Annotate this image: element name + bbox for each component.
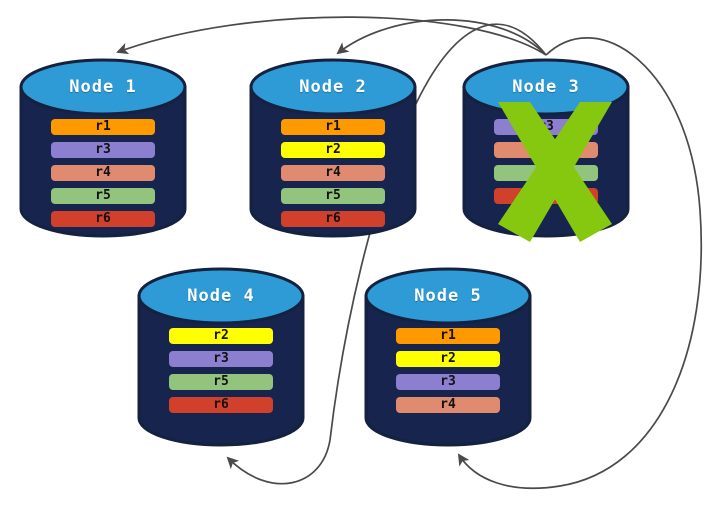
node-1[interactable]: Node 1 r1 r3 r4 r5 r6 (15, 56, 191, 240)
arrow-node3-to-node2 (338, 20, 546, 55)
node-1-record-r1[interactable]: r1 (51, 119, 155, 135)
node-3-record-r6[interactable] (494, 188, 598, 204)
node-2-record-r1[interactable]: r1 (281, 119, 385, 135)
node-2[interactable]: Node 2 r1 r2 r4 r5 r6 (245, 56, 421, 240)
node-4[interactable]: Node 4 r2 r3 r5 r6 (133, 265, 309, 449)
node-3[interactable]: Node 3 r3 (458, 56, 634, 240)
node-3-record-r4[interactable] (494, 142, 598, 158)
node-2-record-r6[interactable]: r6 (281, 211, 385, 227)
node-1-record-r4[interactable]: r4 (51, 165, 155, 181)
diagram-canvas: Node 1 r1 r3 r4 r5 r6 Node 2 r1 r2 r4 r5… (0, 0, 708, 508)
node-5-record-r4[interactable]: r4 (396, 397, 500, 413)
node-3-label: Node 3 (458, 77, 634, 97)
node-3-record-r3[interactable]: r3 (494, 119, 598, 135)
node-4-record-r5[interactable]: r5 (169, 374, 273, 390)
node-2-record-r4[interactable]: r4 (281, 165, 385, 181)
node-1-record-r3[interactable]: r3 (51, 142, 155, 158)
arrow-node3-to-node1 (118, 17, 546, 55)
node-2-record-r2[interactable]: r2 (281, 142, 385, 158)
node-5[interactable]: Node 5 r1 r2 r3 r4 (360, 265, 536, 449)
node-5-label: Node 5 (360, 286, 536, 306)
node-5-record-r2[interactable]: r2 (396, 351, 500, 367)
node-4-record-r2[interactable]: r2 (169, 328, 273, 344)
node-3-record-r5[interactable] (494, 165, 598, 181)
node-5-record-r1[interactable]: r1 (396, 328, 500, 344)
node-2-record-r5[interactable]: r5 (281, 188, 385, 204)
node-1-record-r5[interactable]: r5 (51, 188, 155, 204)
node-4-label: Node 4 (133, 286, 309, 306)
node-5-record-r3[interactable]: r3 (396, 374, 500, 390)
node-1-label: Node 1 (15, 77, 191, 97)
node-2-label: Node 2 (245, 77, 421, 97)
node-4-record-r3[interactable]: r3 (169, 351, 273, 367)
node-4-record-r6[interactable]: r6 (169, 397, 273, 413)
node-1-record-r6[interactable]: r6 (51, 211, 155, 227)
